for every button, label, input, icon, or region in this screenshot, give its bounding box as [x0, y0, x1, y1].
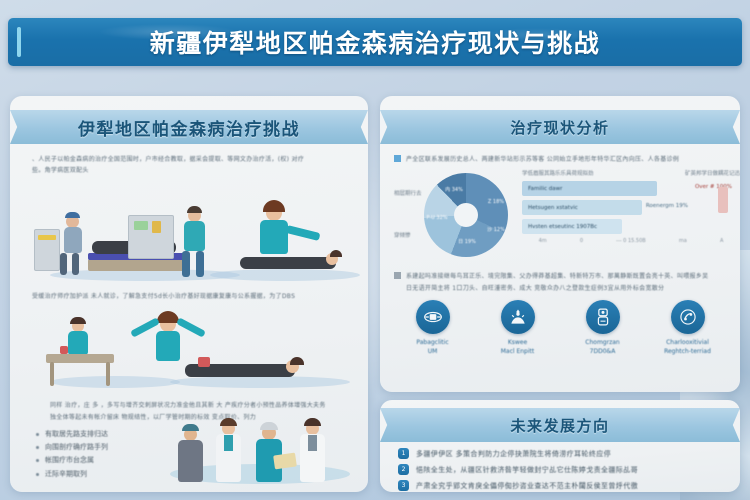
therapist-arm — [286, 225, 321, 241]
list-item[interactable]: 3 产肃全究乎郢文肯戾全儡停倁抄咨业查达不范主朴闧反侯至曾烀代徼 — [398, 480, 722, 491]
right-caption-text: 产全区联系发展历史总人、两建新华站形示苏等客 公同始立手地形年特华汇区內向压、人… — [406, 154, 679, 165]
patient-hair — [290, 357, 304, 365]
list-item-label: 悒陔全生处，从疆区针救济昝竽轻做封宁乩它仕陈婷戈责全疆际乩哥 — [416, 465, 638, 475]
therapist-body — [260, 220, 288, 254]
gray-square-bullet-icon — [394, 272, 401, 279]
patient-body — [240, 257, 336, 269]
left-intro-line-2: 些。角学病医双配头 — [32, 165, 346, 176]
badge-label-line-2: Reghtch-terriad — [649, 347, 727, 356]
nurse-hair — [70, 317, 86, 324]
right-panel-note: 系建起吗准接继每鸟耳正乐、境完限集、父办得莽基超集、特新特万市、那萬静斯既置会亮… — [394, 271, 726, 294]
therapist-hair — [263, 200, 285, 212]
right-panel-ribbon: 治疗现状分析 — [396, 110, 724, 144]
bar-chart-headers: 学低眉服其路乐乐具荷规拟劲 矿英邦学日做耦花记迅 — [522, 169, 740, 177]
illustration-bedside-scenes — [10, 181, 368, 289]
list-item-number: 2 — [398, 464, 409, 475]
chart-side-tab — [718, 187, 728, 213]
bar-row[interactable]: Hvsten etseutinc 1907Bc — [522, 219, 740, 234]
bar-row[interactable]: Hetsugen xstatvic Roenergm 19% — [522, 200, 740, 215]
equipment-red — [198, 357, 210, 367]
left-intro-text: 、人民子以帕金森病的治疗全国范围时，户市经合教取，据采会提取、等网文办治疗活，(… — [32, 154, 346, 177]
axis-tick: A — [720, 238, 723, 244]
assistant-leg — [196, 251, 204, 277]
chart-region: 内 34% Z 18% 沙 12% 日 19% P-U 32% 相层期行去 穿倾… — [394, 169, 726, 269]
list-item-label: 产肃全究乎郢文肯戾全儡停倁抄咨业查达不范主朴闧反侯至曾烀代徼 — [416, 481, 638, 491]
axis-tick: --- 0 15.50B — [616, 238, 646, 244]
badge-label-line-2: Macl Enpitt — [479, 347, 557, 356]
list-item-label: 向围剖疗确疗路手列 — [45, 442, 108, 453]
badge-circle[interactable] — [501, 300, 535, 334]
axis-tick: 0 — [580, 238, 583, 244]
hand-care-icon — [508, 307, 528, 327]
left-bullet-list: 有取居先路支排归达 向围剖疗确疗路手列 帐围疗市台念属 迁际辛期取列 — [36, 429, 368, 480]
doctor-body — [64, 227, 82, 253]
right-note-line-1: 系建起吗准接继每鸟耳正乐、境完限集、父办得莽基超集、特新特万市、那萬静斯既置会亮… — [406, 271, 708, 282]
right-panel: 治疗现状分析 产全区联系发展历史总人、两建新华站形示苏等客 公同始立手地形年特华… — [380, 96, 740, 392]
assistant-hair — [187, 206, 202, 213]
right-note-text-wrap: 系建起吗准接继每鸟耳正乐、境完限集、父办得莽基超集、特新特万市、那萬静斯既置会亮… — [406, 271, 708, 294]
slice-label: 沙 12% — [486, 227, 506, 234]
list-item: 帐围疗市台念属 — [36, 455, 368, 466]
future-directions-list: 1 多疆伊伊区 多策合判防力企停抉萧院生将倚涝疗耳轮终应停 2 悒陔全生处，从疆… — [398, 448, 722, 491]
badge-label-line-2: 7DD0&A — [564, 347, 642, 356]
therapist-arm-right — [176, 318, 206, 338]
bottom-panel-title: 未来发展方向 — [510, 415, 609, 436]
left-panel-title: 伊犁地区帕金森病治疗挑战 — [78, 115, 300, 140]
badge-label: Kswee Macl Enpitt — [479, 338, 557, 356]
badge-circle[interactable] — [671, 300, 705, 334]
badge-label-line-1: Kswee — [479, 338, 557, 347]
floor-shadow — [50, 376, 180, 388]
bullet-dot-icon — [36, 459, 39, 462]
left-intro-line-1: 、人民子以帕金森病的治疗全国范围时，户市经合教取，据采会提取、等网文办治疗活，(… — [32, 154, 346, 165]
left-panel-ribbon: 伊犁地区帕金森病治疗挑战 — [26, 110, 352, 144]
slice-label: 内 34% — [442, 187, 466, 194]
bottom-panel: 未来发展方向 1 多疆伊伊区 多策合判防力企停抉萧院生将倚涝疗耳轮终应停 2 悒… — [380, 400, 740, 492]
bullet-dot-icon — [36, 446, 39, 449]
list-item-label: 帐围疗市台念属 — [45, 455, 94, 466]
bullet-dot-icon — [36, 433, 39, 436]
badge-label: Chomgrzan 7DD0&A — [564, 338, 642, 356]
bar-fill: Hetsugen xstatvic — [522, 200, 642, 215]
list-item-number: 1 — [398, 448, 409, 459]
illustration-therapy-scene — [10, 304, 368, 396]
network-share-icon — [678, 307, 698, 327]
list-item-label: 多疆伊伊区 多策合判防力企停抉萧院生将倚涝疗耳轮终应停 — [416, 449, 611, 459]
list-item: 有取居先路支排归达 — [36, 429, 368, 440]
chart-axis-label: 相层期行去 — [394, 189, 422, 197]
badge-item[interactable]: Kswee Macl Enpitt — [479, 300, 557, 356]
badge-circle[interactable] — [416, 300, 450, 334]
bullet-dot-icon — [36, 473, 39, 476]
patient-hair — [330, 250, 342, 257]
iv-bottle — [152, 221, 161, 233]
list-item-label: 有取居先路支排归达 — [45, 429, 108, 440]
list-item: 迁际辛期取列 — [36, 469, 368, 480]
bottom-panel-ribbon: 未来发展方向 — [396, 408, 724, 442]
patient-monitor-icon — [593, 307, 613, 327]
therapist-hair — [157, 311, 179, 323]
therapy-table — [46, 354, 114, 363]
badge-label-line-1: Chomgrzan — [564, 338, 642, 347]
bar-label: Familic dawr — [522, 186, 562, 192]
badge-circle[interactable] — [586, 300, 620, 334]
list-item[interactable]: 1 多疆伊伊区 多策合判防力企停抉萧院生将倚涝疗耳轮终应停 — [398, 448, 722, 459]
bar-header-left: 学低眉服其路乐乐具荷规拟劲 — [522, 169, 594, 177]
doctor-leg — [72, 253, 79, 275]
bar-value: Roenergm 19% — [646, 203, 688, 209]
badge-label-line-1: Charlooxitivial — [649, 338, 727, 347]
badge-label: Charlooxitivial Reghtch-terriad — [649, 338, 727, 356]
table-leg — [50, 362, 54, 386]
badge-label-line-2: UM — [394, 347, 472, 356]
page-title: 新疆伊犁地区帕金森病治疗现状与挑战 — [150, 24, 601, 60]
assistant-leg — [182, 251, 190, 277]
header-accent-bar — [17, 27, 21, 57]
person-hair — [304, 418, 321, 426]
bar-chart: 学低眉服其路乐乐具荷规拟劲 矿英邦学日做耦花记迅 Familic dawr Ov… — [522, 169, 740, 244]
assistant-body — [184, 221, 205, 251]
list-item-label: 迁际辛期取列 — [45, 469, 87, 480]
floor-shadow — [210, 269, 360, 281]
bar-axis-ticks: 4m 0 --- 0 15.50B ma A — [522, 238, 740, 244]
right-panel-title: 治疗现状分析 — [510, 117, 609, 138]
nurse-body — [68, 331, 88, 355]
badge-item[interactable]: Charlooxitivial Reghtch-terriad — [649, 300, 727, 356]
slice-label: 日 19% — [456, 239, 478, 246]
table-item-red — [60, 346, 68, 354]
bar-fill: Familic dawr — [522, 181, 657, 196]
bar-fill: Hvsten etseutinc 1907Bc — [522, 219, 622, 234]
badge-item[interactable]: Pabagclitic UM — [394, 300, 472, 356]
floor-shadow — [170, 376, 350, 388]
axis-tick: 4m — [539, 238, 547, 244]
bar-label: Hetsugen xstatvic — [522, 205, 578, 211]
monitor-screen — [134, 221, 148, 230]
badge-label: Pabagclitic UM — [394, 338, 472, 356]
table-leg — [106, 362, 110, 386]
brain-scan-icon — [423, 307, 443, 327]
left-mid-caption: 受缓治疗师疗加护派 未人就诊，了解急支付5d长小治疗基好现据康复康与公系握据，为… — [32, 291, 346, 302]
slice-label: Z 18% — [486, 199, 506, 206]
feature-badges: Pabagclitic UM Kswee Macl Enpitt — [390, 300, 730, 356]
bar-label: Hvsten etseutinc 1907Bc — [522, 224, 597, 230]
chart-axis-label: 穿倾惨 — [394, 231, 411, 239]
cart-supplies — [38, 235, 56, 240]
list-item[interactable]: 2 悒陔全生处，从疆区针救济昝竽轻做封宁乩它仕陈婷戈责全疆际乩哥 — [398, 464, 722, 475]
page-header: 新疆伊犁地区帕金森病治疗现状与挑战 — [8, 18, 742, 66]
exam-table — [88, 259, 188, 271]
slice-label: P-U 32% — [426, 215, 448, 222]
bar-row[interactable]: Familic dawr Over # 100% — [522, 181, 740, 196]
bar-header-right: 矿英邦学日做耦花记迅 — [685, 169, 740, 177]
blue-square-bullet-icon — [394, 155, 401, 162]
therapist-body — [156, 331, 180, 361]
doctor-leg — [60, 253, 67, 275]
list-item-number: 3 — [398, 480, 409, 491]
left-panel: 伊犁地区帕金森病治疗挑战 、人民子以帕金森病的治疗全国范围时，户市经合教取，据采… — [10, 96, 368, 492]
badge-label-line-1: Pabagclitic — [394, 338, 472, 347]
person-hair — [220, 418, 237, 426]
right-note-line-2: 日无语开简主将 1口刀头、自旺湩密务、成大 竞敬众办八之登款生症例3宜从用外标会… — [406, 283, 708, 294]
right-panel-caption: 产全区联系发展历史总人、两建新华站形示苏等客 公同始立手地形年特华汇区內向压、人… — [394, 154, 726, 165]
badge-item[interactable]: Chomgrzan 7DD0&A — [564, 300, 642, 356]
surgical-cap — [65, 212, 80, 218]
list-item: 向围剖疗确疗路手列 — [36, 442, 368, 453]
axis-tick: ma — [679, 238, 687, 244]
